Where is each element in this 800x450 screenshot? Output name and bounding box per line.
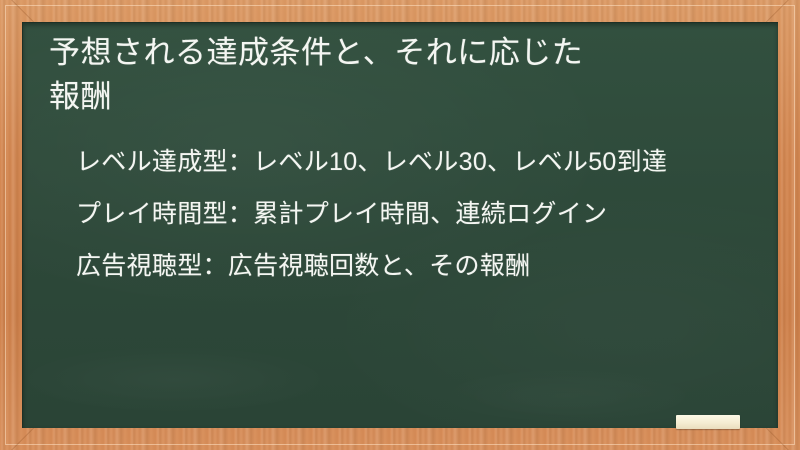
chalk-stick (676, 415, 740, 429)
bullet-list: レベル達成型：レベル10、レベル30、レベル50到達 プレイ時間型：累計プレイ時… (49, 141, 752, 287)
board-content: 予想される達成条件と、それに応じた報酬 レベル達成型：レベル10、レベル30、レ… (23, 23, 778, 287)
bullet-item-playtime: プレイ時間型：累計プレイ時間、連続ログイン (49, 193, 752, 235)
slide-title-line-1: 予想される達成条件と、それに応じた (49, 35, 583, 70)
chalkboard-slide: 予想される達成条件と、それに応じた報酬 レベル達成型：レベル10、レベル30、レ… (0, 0, 800, 450)
slide-title-line-2: 報酬 (49, 79, 112, 114)
blackboard-surface: 予想される達成条件と、それに応じた報酬 レベル達成型：レベル10、レベル30、レ… (22, 22, 778, 428)
slide-title: 予想される達成条件と、それに応じた報酬 (49, 31, 752, 119)
bullet-item-ad-viewing: 広告視聴型：広告視聴回数と、その報酬 (49, 245, 752, 287)
bullet-item-level: レベル達成型：レベル10、レベル30、レベル50到達 (49, 141, 752, 183)
